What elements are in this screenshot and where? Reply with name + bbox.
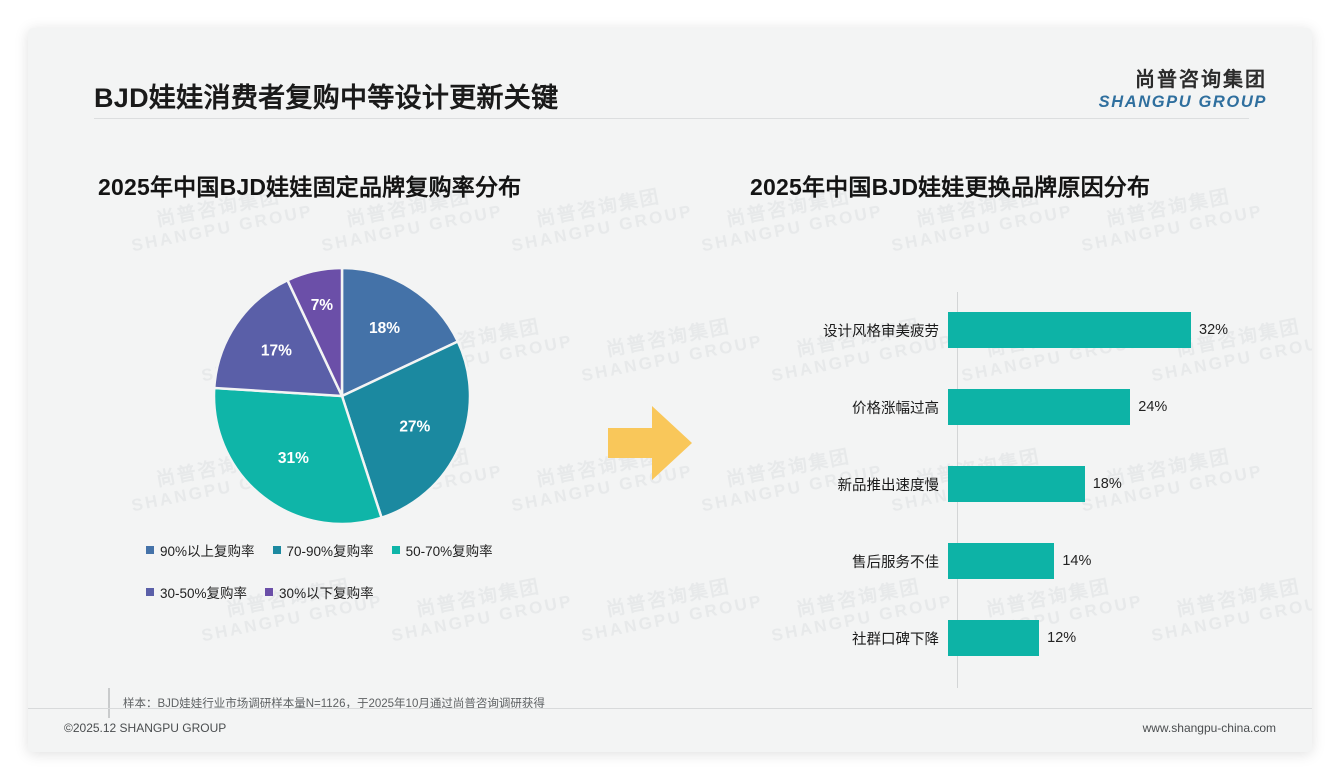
slide-footer: ©2025.12 SHANGPU GROUP www.shangpu-china…	[28, 708, 1312, 752]
legend-item[interactable]: 90%以上复购率	[146, 540, 255, 560]
bar-category-label: 社群口碑下降	[750, 628, 948, 649]
bar-rect[interactable]	[948, 466, 1085, 502]
footer-copyright: ©2025.12 SHANGPU GROUP	[64, 721, 226, 735]
watermark-text: 尚普咨询集团SHANGPU GROUP	[506, 181, 695, 256]
watermark-text: 尚普咨询集团SHANGPU GROUP	[576, 571, 765, 646]
bar-category-label: 价格涨幅过高	[750, 397, 948, 418]
pie-slice-label: 31%	[278, 450, 309, 467]
page-title: BJD娃娃消费者复购中等设计更新关键	[94, 76, 558, 115]
legend-item[interactable]: 30%以下复购率	[265, 582, 374, 602]
pie-slice-label: 7%	[311, 297, 334, 314]
bar-value-label: 18%	[1093, 476, 1122, 492]
repurchase-rate-pie-chart: 18%27%31%17%7%	[210, 264, 474, 528]
bar-rect[interactable]	[948, 312, 1191, 348]
pie-chart-legend: 90%以上复购率70-90%复购率50-70%复购率 30-50%复购率30%以…	[146, 540, 586, 602]
slide-canvas: 尚普咨询集团SHANGPU GROUP尚普咨询集团SHANGPU GROUP尚普…	[28, 28, 1312, 752]
watermark-text: 尚普咨询集团SHANGPU GROUP	[576, 311, 765, 386]
bar-value-label: 32%	[1199, 322, 1228, 338]
legend-swatch-icon	[265, 588, 273, 596]
logo-english-text: SHANGPU GROUP	[1099, 93, 1267, 112]
title-divider	[94, 118, 1249, 119]
bar-rect[interactable]	[948, 389, 1130, 425]
legend-item-label: 30-50%复购率	[160, 582, 247, 602]
bar-category-label: 售后服务不佳	[750, 551, 948, 572]
footer-website[interactable]: www.shangpu-china.com	[1143, 721, 1276, 735]
arrow-right-icon	[604, 400, 696, 491]
pie-slice-label: 17%	[261, 342, 292, 359]
company-logo: 尚普咨询集团 SHANGPU GROUP	[1099, 63, 1267, 112]
pie-slice-label: 18%	[369, 320, 400, 337]
legend-swatch-icon	[146, 588, 154, 596]
slide-header: BJD娃娃消费者复购中等设计更新关键 尚普咨询集团 SHANGPU GROUP	[28, 28, 1312, 121]
right-chart-title: 2025年中国BJD娃娃更换品牌原因分布	[750, 168, 1150, 202]
bar-chart-row: 社群口碑下降12%	[750, 620, 1280, 656]
left-chart-title: 2025年中国BJD娃娃固定品牌复购率分布	[98, 168, 521, 202]
bar-chart-row: 设计风格审美疲劳32%	[750, 312, 1280, 348]
legend-swatch-icon	[273, 546, 281, 554]
bar-rect[interactable]	[948, 543, 1054, 579]
legend-swatch-icon	[146, 546, 154, 554]
legend-item[interactable]: 50-70%复购率	[392, 540, 493, 560]
legend-item-label: 70-90%复购率	[287, 540, 374, 560]
legend-swatch-icon	[392, 546, 400, 554]
brand-switch-reason-bar-chart: 设计风格审美疲劳32%价格涨幅过高24%新品推出速度慢18%售后服务不佳14%社…	[750, 276, 1280, 688]
legend-item[interactable]: 70-90%复购率	[273, 540, 374, 560]
bar-value-label: 12%	[1047, 630, 1076, 646]
legend-item-label: 50-70%复购率	[406, 540, 493, 560]
bar-chart-row: 价格涨幅过高24%	[750, 389, 1280, 425]
bar-category-label: 新品推出速度慢	[750, 474, 948, 495]
bar-rect[interactable]	[948, 620, 1039, 656]
pie-slice-label: 27%	[399, 419, 430, 436]
bar-category-label: 设计风格审美疲劳	[750, 320, 948, 341]
legend-item[interactable]: 30-50%复购率	[146, 582, 247, 602]
bar-value-label: 24%	[1138, 399, 1167, 415]
legend-item-label: 30%以下复购率	[279, 582, 374, 602]
bar-chart-row: 售后服务不佳14%	[750, 543, 1280, 579]
bar-value-label: 14%	[1062, 553, 1091, 569]
legend-item-label: 90%以上复购率	[160, 540, 255, 560]
logo-chinese-text: 尚普咨询集团	[1099, 63, 1267, 92]
bar-chart-row: 新品推出速度慢18%	[750, 466, 1280, 502]
